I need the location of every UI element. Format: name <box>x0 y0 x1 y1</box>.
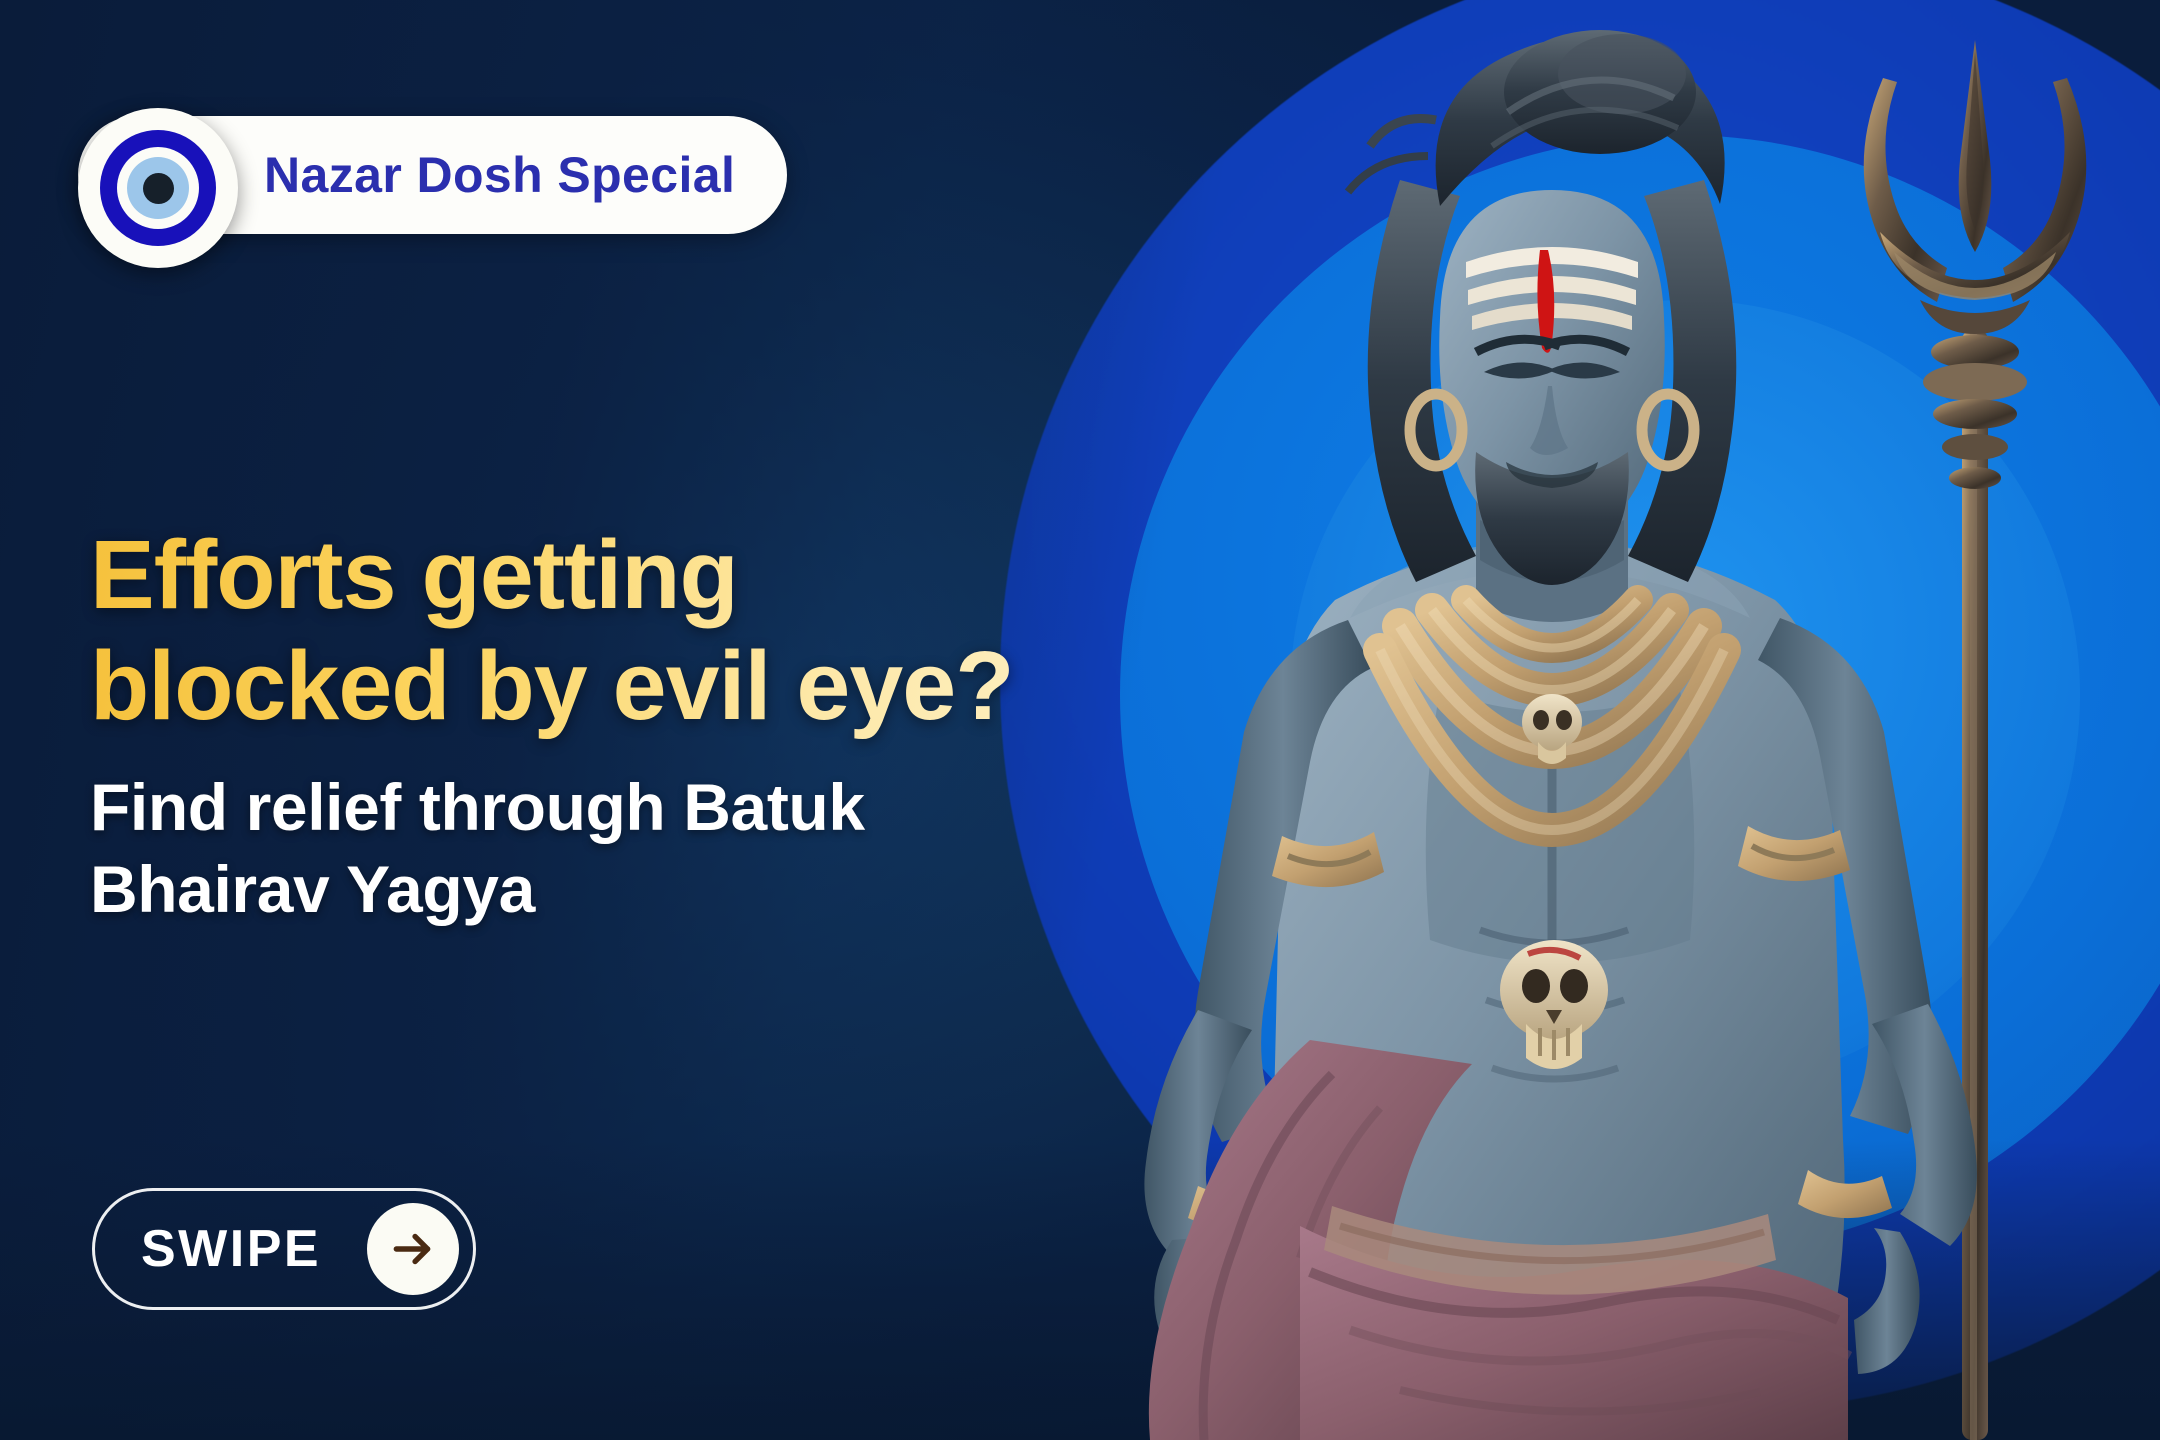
swipe-label: SWIPE <box>141 1219 321 1279</box>
badge-label: Nazar Dosh Special <box>264 146 735 204</box>
swipe-button[interactable]: SWIPE <box>92 1188 476 1310</box>
evil-eye-ring-white <box>117 147 199 229</box>
evil-eye-iris <box>127 157 189 219</box>
evil-eye-ring-blue <box>100 130 216 246</box>
arrow-right-icon[interactable] <box>367 1203 459 1295</box>
evil-eye-pupil <box>143 173 174 204</box>
trishul-trident <box>1864 40 2087 1440</box>
jata-hair-bun <box>1348 30 1725 206</box>
copy-block: Efforts getting blocked by evil eye? Fin… <box>90 520 1100 931</box>
subheading-line-2: Bhairav Yagya <box>90 849 1100 931</box>
headline-line-2: blocked by evil eye? <box>90 631 1100 742</box>
evil-eye-icon <box>78 108 238 268</box>
promo-slide: Nazar Dosh Special Efforts getting block… <box>0 0 2160 1440</box>
headline-line-1: Efforts getting <box>90 520 1100 631</box>
subheading-line-1: Find relief through Batuk <box>90 767 1100 849</box>
nazar-dosh-badge[interactable]: Nazar Dosh Special <box>78 108 787 242</box>
